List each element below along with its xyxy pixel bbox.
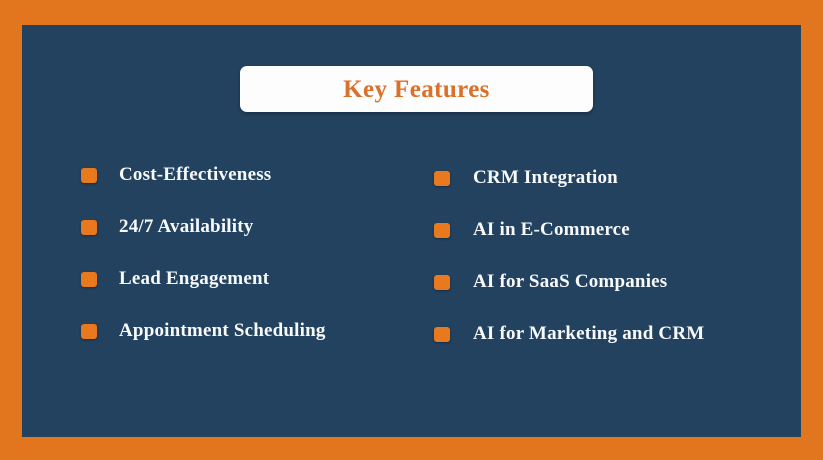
list-item[interactable]: Lead Engagement xyxy=(81,269,326,289)
feature-label: AI for Marketing and CRM xyxy=(473,324,704,344)
feature-label: AI in E-Commerce xyxy=(473,220,630,240)
features-left-column: Cost-Effectiveness 24/7 Availability Lea… xyxy=(81,165,326,341)
feature-label: Lead Engagement xyxy=(119,269,269,289)
square-bullet-icon xyxy=(81,168,97,183)
square-bullet-icon xyxy=(434,171,450,186)
list-item[interactable]: AI for SaaS Companies xyxy=(434,272,704,292)
list-item[interactable]: 24/7 Availability xyxy=(81,217,326,237)
list-item[interactable]: CRM Integration xyxy=(434,168,704,188)
square-bullet-icon xyxy=(434,327,450,342)
list-item[interactable]: AI in E-Commerce xyxy=(434,220,704,240)
feature-label: Appointment Scheduling xyxy=(119,321,326,341)
square-bullet-icon xyxy=(81,220,97,235)
features-right-column: CRM Integration AI in E-Commerce AI for … xyxy=(434,168,704,344)
list-item[interactable]: AI for Marketing and CRM xyxy=(434,324,704,344)
features-grid: Cost-Effectiveness 24/7 Availability Lea… xyxy=(22,25,801,437)
content-panel: Key Features Cost-Effectiveness 24/7 Ava… xyxy=(22,25,801,437)
list-item[interactable]: Cost-Effectiveness xyxy=(81,165,326,185)
list-item[interactable]: Appointment Scheduling xyxy=(81,321,326,341)
feature-label: AI for SaaS Companies xyxy=(473,272,667,292)
feature-label: 24/7 Availability xyxy=(119,217,253,237)
square-bullet-icon xyxy=(81,324,97,339)
square-bullet-icon xyxy=(81,272,97,287)
slide-root: Key Features Cost-Effectiveness 24/7 Ava… xyxy=(0,0,823,460)
feature-label: CRM Integration xyxy=(473,168,618,188)
square-bullet-icon xyxy=(434,223,450,238)
feature-label: Cost-Effectiveness xyxy=(119,165,271,185)
square-bullet-icon xyxy=(434,275,450,290)
